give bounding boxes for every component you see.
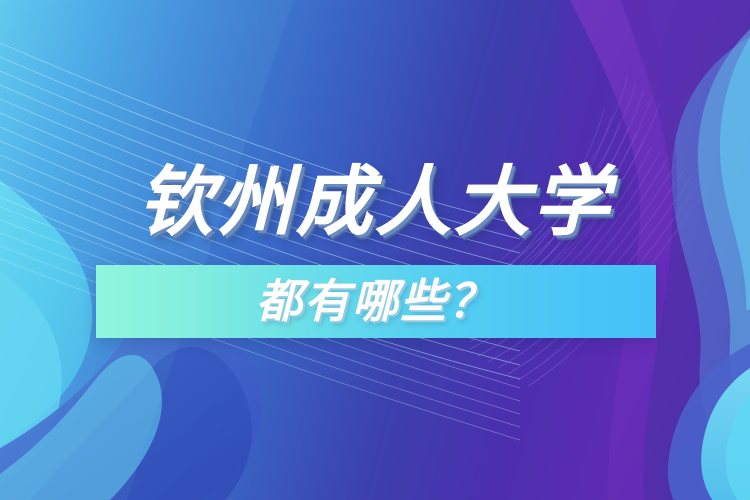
background-decorative-waves bbox=[0, 0, 750, 500]
main-title: 钦州成人大学 bbox=[138, 158, 612, 248]
subtitle-text: 都有哪些？ bbox=[256, 273, 496, 331]
poster-banner: 钦州成人大学 都有哪些？ bbox=[0, 0, 750, 500]
title-block: 钦州成人大学 bbox=[0, 158, 750, 248]
subtitle-banner: 都有哪些？ bbox=[96, 265, 656, 338]
